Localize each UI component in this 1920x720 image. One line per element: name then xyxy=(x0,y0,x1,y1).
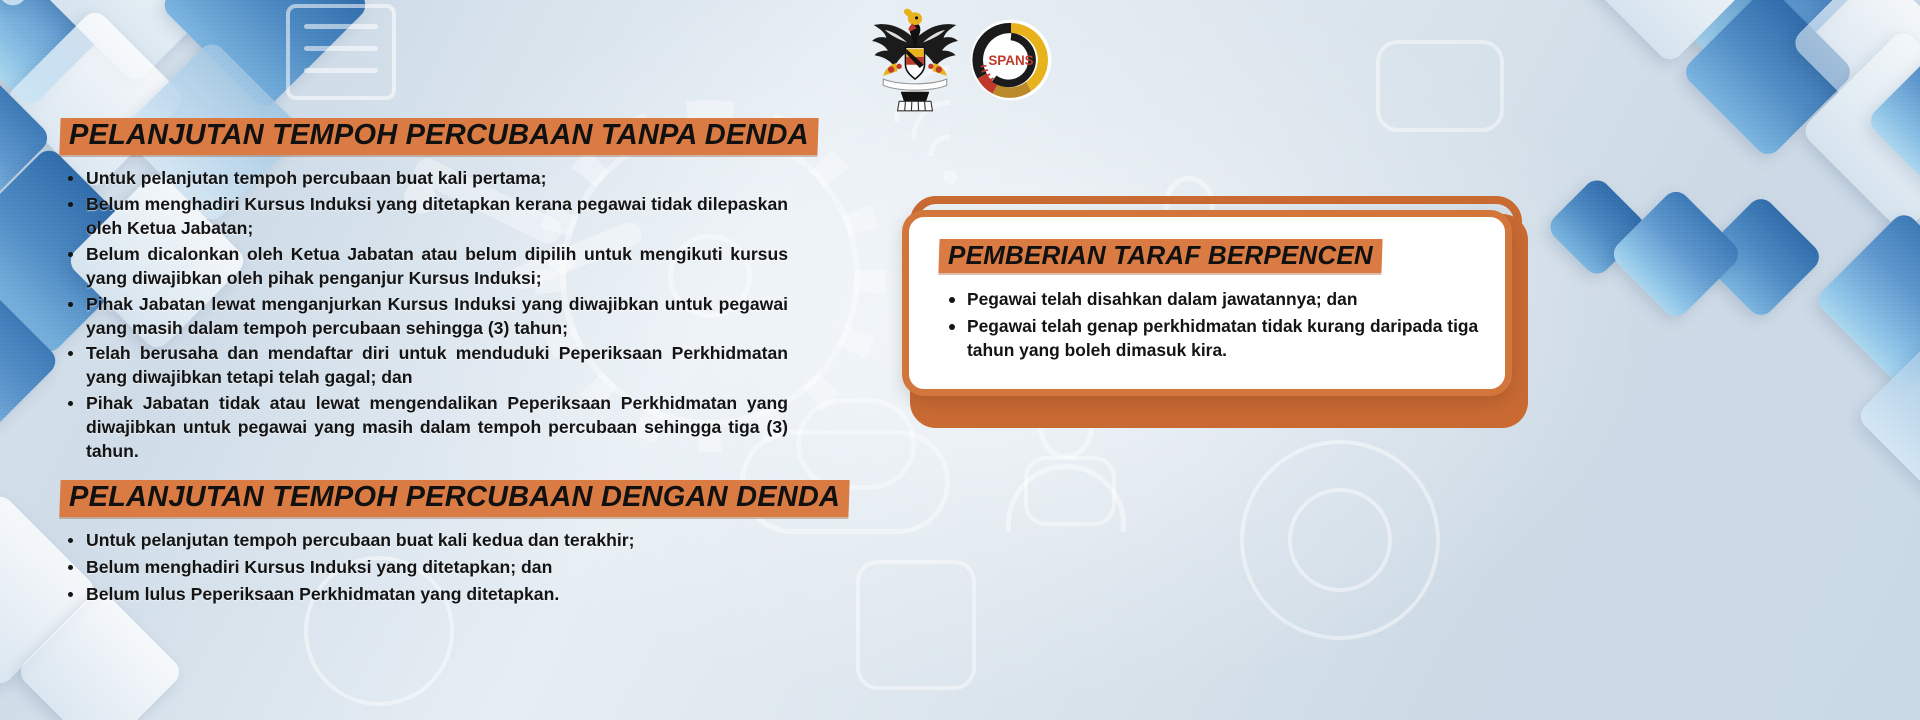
section-heading-2: PELANJUTAN TEMPOH PERCUBAAN DENGAN DENDA xyxy=(59,480,849,517)
decorative-diamond xyxy=(0,0,129,109)
shield-outline-icon xyxy=(856,560,976,690)
decorative-diamond xyxy=(1813,209,1920,390)
list-item: Belum menghadiri Kursus Induksi yang dit… xyxy=(60,193,788,241)
decorative-diamond xyxy=(0,255,61,467)
decorative-diamond xyxy=(0,53,53,223)
decorative-diamond xyxy=(1571,0,1769,65)
list-item: Belum dicalonkan oleh Ketua Jabatan atau… xyxy=(60,243,788,291)
decorative-diamond xyxy=(1800,28,1920,234)
decorative-diamond xyxy=(1697,193,1824,320)
list-item: Belum lulus Peperiksaan Perkhidmatan yan… xyxy=(60,583,788,607)
card-bullet-list: Pegawai telah disahkan dalam jawatannya;… xyxy=(939,287,1479,363)
section-tanpa-denda: PELANJUTAN TEMPOH PERCUBAAN TANPA DENDA … xyxy=(60,118,788,464)
spans-logo-icon: SPANS xyxy=(969,18,1053,102)
card-heading: PEMBERIAN TARAF BERPENCEN xyxy=(938,239,1382,273)
list-item: Pegawai telah disahkan dalam jawatannya;… xyxy=(939,287,1479,312)
logo-group: SPANS xyxy=(867,6,1053,114)
decorative-diamond xyxy=(1645,0,1857,97)
infographic-banner: SPANS PELANJUTAN TEMPOH PERCUBAAN TANPA … xyxy=(0,0,1920,720)
wifi-dot-icon xyxy=(943,170,957,184)
list-item: Pihak Jabatan tidak atau lewat mengendal… xyxy=(60,392,788,464)
decorative-diamond xyxy=(1608,186,1744,322)
decorative-diamond xyxy=(1865,43,1920,199)
section-heading-1: PELANJUTAN TEMPOH PERCUBAAN TANPA DENDA xyxy=(59,118,818,155)
decorative-diamond xyxy=(0,0,119,11)
bullet-list-1: Untuk pelanjutan tempoh percubaan buat k… xyxy=(60,167,788,464)
card-panel: PEMBERIAN TARAF BERPENCEN Pegawai telah … xyxy=(902,210,1512,396)
pemberian-taraf-berpencen-card: PEMBERIAN TARAF BERPENCEN Pegawai telah … xyxy=(882,196,1522,428)
list-item: Pegawai telah genap perkhidmatan tidak k… xyxy=(939,314,1479,363)
left-content-column: PELANJUTAN TEMPOH PERCUBAAN TANPA DENDA … xyxy=(60,118,788,610)
lock-outline-icon xyxy=(1472,104,1558,208)
section-dengan-denda: PELANJUTAN TEMPOH PERCUBAAN DENGAN DENDA… xyxy=(60,480,788,607)
list-item: Untuk pelanjutan tempoh percubaan buat k… xyxy=(60,529,788,553)
decorative-diamond xyxy=(1545,175,1650,280)
server-outline-icon xyxy=(286,4,396,100)
list-item: Belum menghadiri Kursus Induksi yang dit… xyxy=(60,556,788,580)
bullet-list-2: Untuk pelanjutan tempoh percubaan buat k… xyxy=(60,529,788,607)
decorative-diamond xyxy=(29,0,241,85)
list-item: Untuk pelanjutan tempoh percubaan buat k… xyxy=(60,167,788,191)
circle-outline-icon xyxy=(1288,488,1392,592)
section-heading-2-text: PELANJUTAN TEMPOH PERCUBAAN DENGAN DENDA xyxy=(69,483,840,512)
circle-outline-icon xyxy=(1240,440,1440,640)
decorative-diamond xyxy=(1790,0,1920,126)
spans-logo-text: SPANS xyxy=(988,53,1033,68)
decorative-diamond xyxy=(159,0,371,111)
card-heading-text: PEMBERIAN TARAF BERPENCEN xyxy=(948,242,1373,268)
decorative-diamond xyxy=(1680,0,1855,160)
device-outline-icon xyxy=(1024,456,1116,526)
section-heading-1-text: PELANJUTAN TEMPOH PERCUBAAN TANPA DENDA xyxy=(69,121,809,150)
decorative-diamond xyxy=(1855,331,1920,501)
list-item: Pihak Jabatan lewat menganjurkan Kursus … xyxy=(60,293,788,341)
device-outline-icon xyxy=(1376,40,1504,132)
list-item: Telah berusaha dan mendaftar diri untuk … xyxy=(60,342,788,390)
sarawak-state-crest-icon xyxy=(867,6,963,114)
